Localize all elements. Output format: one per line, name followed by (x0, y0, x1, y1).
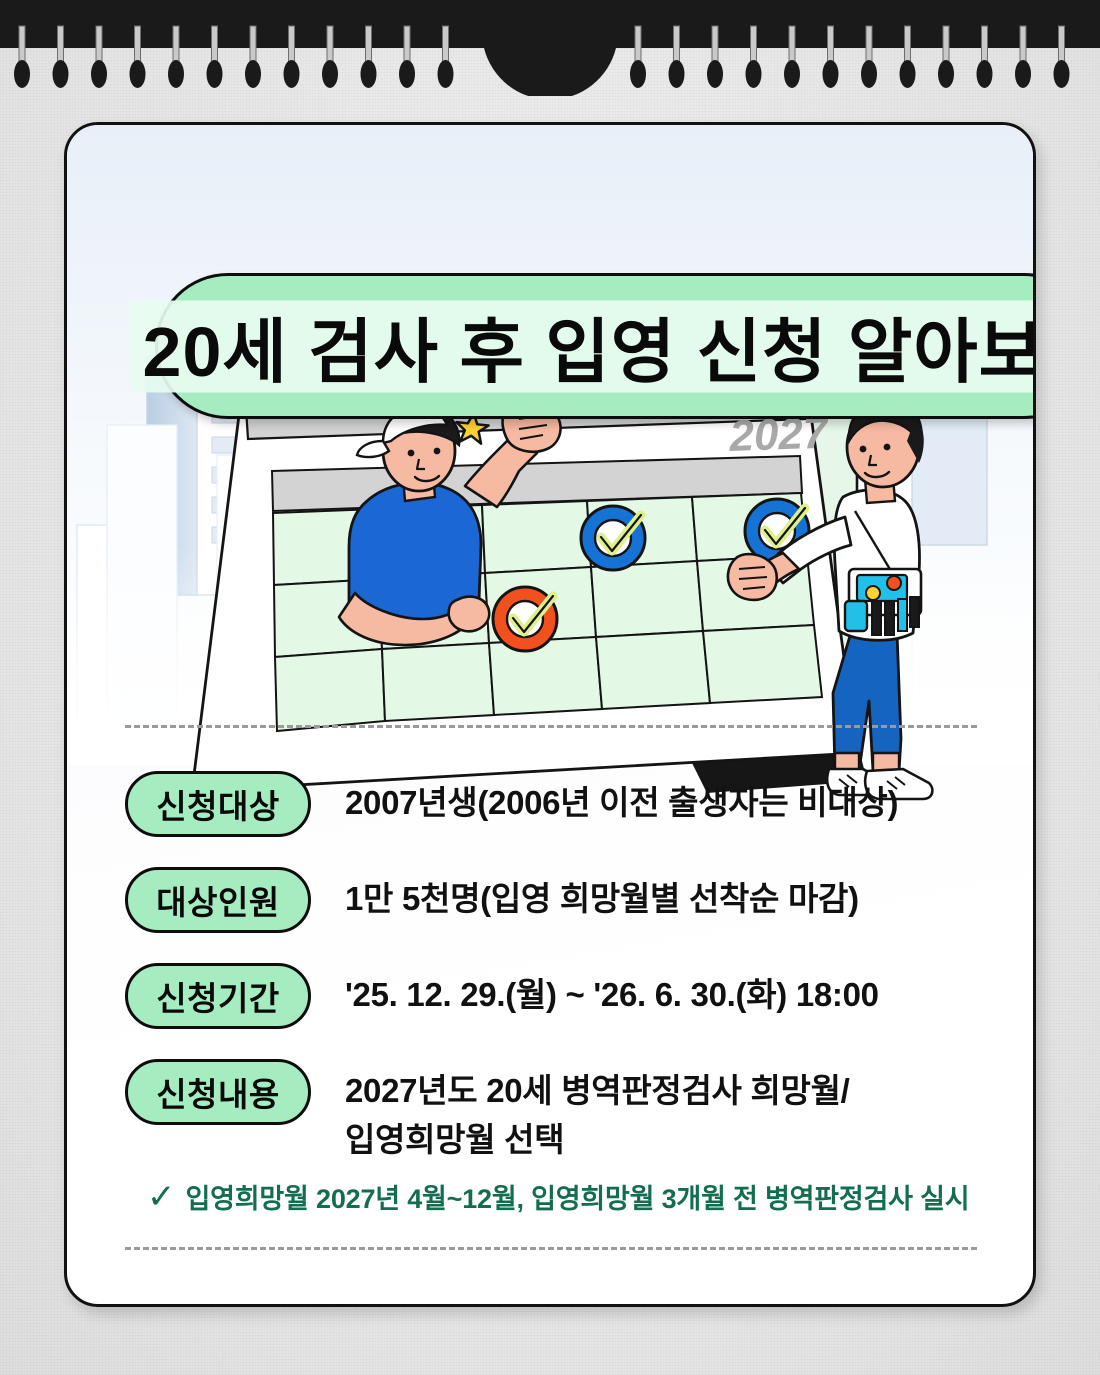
divider-bottom (125, 1247, 977, 1250)
value-content: 2027년도 20세 병역판정검사 희망월/ 입영희망월 선택 (345, 1059, 850, 1165)
value-applicant: 2007년생(2006년 이전 출생자는 비대상) (345, 771, 898, 828)
info-list: 신청대상 2007년생(2006년 이전 출생자는 비대상) 대상인원 1만 5… (125, 771, 985, 1195)
check-badge-blue-1 (581, 506, 645, 570)
value-period: '25. 12. 29.(월) ~ '26. 6. 30.(화) 18:00 (345, 963, 879, 1020)
info-row-quota: 대상인원 1만 5천명(입영 희망월별 선착순 마감) (125, 867, 985, 933)
info-row-applicant: 신청대상 2007년생(2006년 이전 출생자는 비대상) (125, 771, 985, 837)
badge-period: 신청기간 (125, 963, 311, 1029)
spiral-binder (0, 0, 1100, 96)
page-title: 20세 검사 후 입영 신청 알아보기 (129, 292, 1036, 401)
note-line: ✓ 입영희망월 2027년 4월~12월, 입영희망월 3개월 전 병역판정검사… (147, 1177, 969, 1216)
badge-quota: 대상인원 (125, 867, 311, 933)
badge-content: 신청내용 (125, 1059, 311, 1125)
check-icon: ✓ (147, 1180, 176, 1214)
title-pill: 20세 검사 후 입영 신청 알아보기 (155, 273, 1036, 419)
note-text: 입영희망월 2027년 4월~12월, 입영희망월 3개월 전 병역판정검사 실… (186, 1177, 970, 1216)
value-quota: 1만 5천명(입영 희망월별 선착순 마감) (345, 867, 859, 924)
badge-applicant: 신청대상 (125, 771, 311, 837)
info-row-period: 신청기간 '25. 12. 29.(월) ~ '26. 6. 30.(화) 18… (125, 963, 985, 1029)
check-badge-orange (493, 587, 557, 651)
divider-top (125, 725, 977, 728)
info-row-content: 신청내용 2027년도 20세 병역판정검사 희망월/ 입영희망월 선택 (125, 1059, 985, 1165)
poster-card: 20세 검사 후 입영 신청 알아보기 (64, 122, 1036, 1307)
